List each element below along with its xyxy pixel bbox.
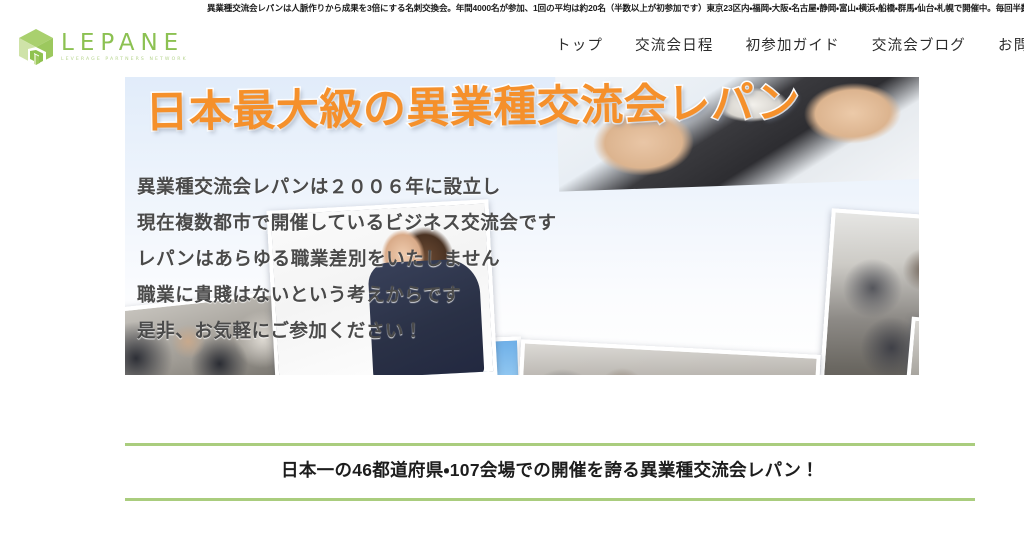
logo-wordmark: LEPANE	[61, 32, 188, 55]
hero-body-line-3: レパンはあらゆる職業差別をいたしません	[137, 241, 557, 277]
nav-item-top[interactable]: トップ	[540, 16, 619, 77]
nav-item-schedule[interactable]: 交流会日程	[619, 16, 730, 77]
main-navigation: トップ 交流会日程 初参加ガイド 交流会ブログ お問い合	[540, 16, 1024, 77]
site-logo[interactable]: LEPANE LEVERAGE PARTNERS NETWORK	[16, 26, 188, 68]
nav-item-first-timer-guide[interactable]: 初参加ガイド	[730, 16, 856, 77]
tagline-text: 日本一の46都道府県・107会場での開催を誇る異業種交流会レパン！	[125, 457, 975, 482]
nav-item-contact[interactable]: お問い合	[982, 16, 1024, 77]
hero-body-line-1: 異業種交流会レパンは２００６年に設立し	[137, 169, 557, 205]
hero-body-line-4: 職業に貴賤はないという考えからです	[137, 277, 557, 313]
nav-item-blog[interactable]: 交流会ブログ	[856, 16, 982, 77]
site-header: LEPANE LEVERAGE PARTNERS NETWORK トップ 交流会…	[0, 16, 1024, 77]
announcement-ticker: 異業種交流会レパンは人脈作りから成果を3倍にする名刺交換会。年間4000名が参加…	[0, 0, 1024, 16]
announcement-ticker-text: 異業種交流会レパンは人脈作りから成果を3倍にする名刺交換会。年間4000名が参加…	[207, 1, 1024, 15]
hero-banner[interactable]: 日本最大級の異業種交流会レパン 異業種交流会レパンは２００６年に設立し 現在複数…	[125, 77, 919, 375]
cube-logo-icon	[16, 27, 56, 67]
hero-body-line-5: 是非、お気軽にご参加ください！	[137, 313, 557, 349]
logo-tagline: LEVERAGE PARTNERS NETWORK	[61, 58, 188, 63]
hero-body-text: 異業種交流会レパンは２００６年に設立し 現在複数都市で開催しているビジネス交流会…	[137, 169, 557, 349]
tagline-rule-bottom	[125, 498, 975, 501]
photo-networking-crowd-top-right	[819, 208, 919, 375]
tagline-band: 日本一の46都道府県・107会場での開催を誇る異業種交流会レパン！	[125, 443, 975, 501]
tagline-rule-top	[125, 443, 975, 446]
hero-body-line-2: 現在複数都市で開催しているビジネス交流会です	[137, 205, 557, 241]
hero-headline: 日本最大級の異業種交流会レパン	[145, 79, 800, 139]
photo-networking-crowd-bottom	[513, 339, 821, 375]
